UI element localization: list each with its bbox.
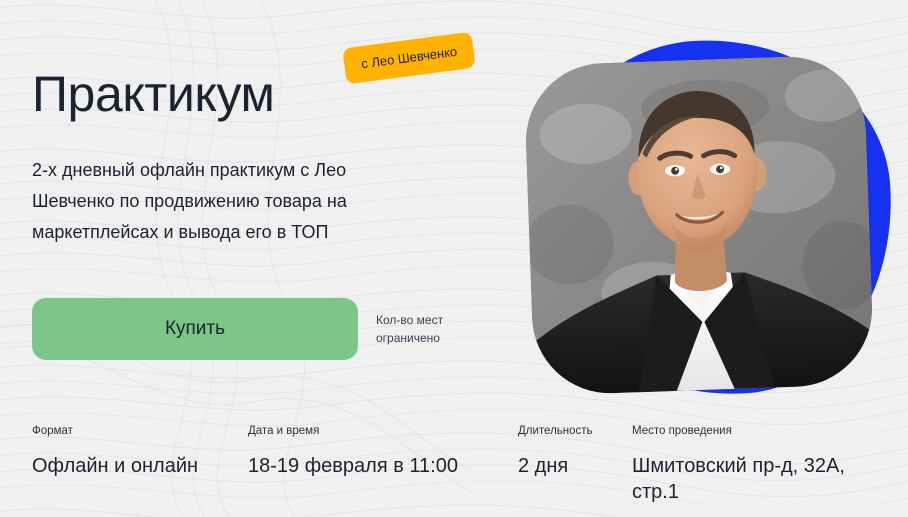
fact-label: Дата и время [248,424,518,438]
fact-value: 2 дня [518,453,628,479]
buy-button[interactable]: Купить [32,298,358,360]
cta-row: Купить Кол-во мест ограничено [32,298,486,360]
speaker-media [519,22,894,402]
fact-format: Формат Офлайн и онлайн [32,424,242,479]
speaker-photo [523,54,874,396]
page-subtitle: 2-х дневный офлайн практикум с Лео Шевче… [32,155,432,248]
fact-datetime: Дата и время 18-19 февраля в 11:00 [248,424,518,479]
fact-label: Длительность [518,424,628,438]
fact-value: Офлайн и онлайн [32,453,242,479]
fact-label: Место проведения [632,424,882,438]
fact-value: Шмитовский пр-д, 32А, стр.1 [632,453,882,505]
promo-page: Практикум 2-х дневный офлайн практикум с… [0,0,908,517]
seats-limited-note: Кол-во мест ограничено [376,311,486,347]
page-title: Практикум [32,66,274,122]
fact-value: 18-19 февраля в 11:00 [248,453,518,479]
fact-label: Формат [32,424,242,438]
fact-duration: Длительность 2 дня [518,424,628,479]
fact-venue: Место проведения Шмитовский пр-д, 32А, с… [632,424,882,505]
